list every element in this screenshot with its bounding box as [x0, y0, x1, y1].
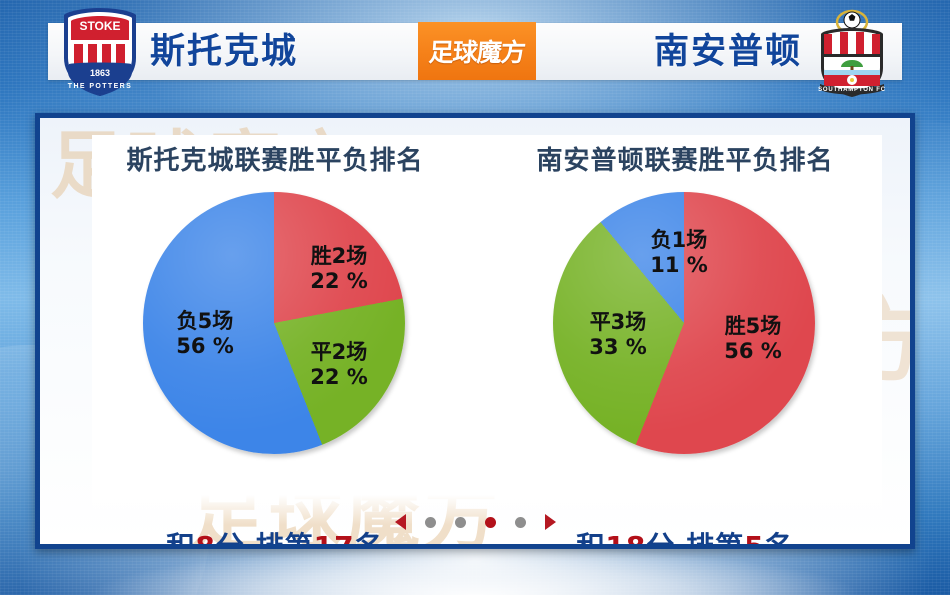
- pie-chart-away[interactable]: 胜5场 56 % 平3场 33 % 负1场 11 %: [553, 192, 815, 454]
- pager-dot[interactable]: [485, 517, 496, 528]
- stats-panel-inner: 足球魔方 足球魔方 魔方 斯托克城联赛胜平负排名 胜2场 22 % 平2场: [40, 118, 910, 544]
- chart-column-home: 斯托克城联赛胜平负排名 胜2场 22 % 平2场 22 % 负5场 56 %: [55, 140, 495, 540]
- pager-dot[interactable]: [425, 517, 436, 528]
- chart-title-away: 南安普顿联赛胜平负排名: [465, 140, 905, 177]
- pie-chart-home[interactable]: 胜2场 22 % 平2场 22 % 负5场 56 %: [143, 192, 405, 454]
- stoke-city-crest-icon: STOKE CITY 1863 THE POTTERS: [58, 6, 142, 98]
- stat-home-points: 8: [195, 530, 215, 544]
- chart-column-away: 南安普顿联赛胜平负排名 胜5场 56 % 平3场 33 % 负1场 11 %: [465, 140, 905, 540]
- stats-panel: 足球魔方 足球魔方 魔方 斯托克城联赛胜平负排名 胜2场 22 % 平2场: [35, 113, 915, 549]
- stat-home-rank: 17: [314, 530, 355, 544]
- carousel-pager: [40, 514, 910, 530]
- pie-slices-home: [143, 192, 405, 454]
- pie-slices-away: [553, 192, 815, 454]
- brand-logo[interactable]: 足球魔方: [418, 22, 536, 80]
- stat-home-mid: 分 排第: [216, 530, 314, 544]
- stat-away-points: 18: [605, 530, 646, 544]
- triangle-right-icon[interactable]: [545, 514, 556, 530]
- pager-dot[interactable]: [455, 517, 466, 528]
- svg-text:SOUTHAMPTON FC: SOUTHAMPTON FC: [818, 87, 886, 93]
- stat-away-suffix: 名: [765, 530, 794, 544]
- bottom-glow: [0, 547, 950, 595]
- triangle-left-icon[interactable]: [395, 514, 406, 530]
- southampton-crest-icon: SOUTHAMPTON FC: [810, 6, 894, 98]
- svg-text:CITY: CITY: [90, 31, 110, 41]
- pager-dot[interactable]: [515, 517, 526, 528]
- chart-title-home: 斯托克城联赛胜平负排名: [55, 140, 495, 177]
- match-header: STOKE CITY 1863 THE POTTERS 斯托克城 足球魔方 南安…: [0, 0, 950, 98]
- brand-logo-text: 足球魔方: [428, 33, 527, 69]
- stat-away-mid: 分 排第: [646, 530, 744, 544]
- home-team-name: 斯托克城: [150, 27, 298, 77]
- svg-text:THE POTTERS: THE POTTERS: [68, 83, 132, 90]
- stat-home-suffix: 名: [355, 530, 384, 544]
- pager-dot-list: [425, 517, 526, 528]
- away-team-name: 南安普顿: [654, 27, 802, 77]
- stat-away-prefix: 积: [576, 530, 605, 544]
- stat-home-prefix: 积: [166, 530, 195, 544]
- svg-text:1863: 1863: [90, 68, 110, 78]
- slide-stage: STOKE CITY 1863 THE POTTERS 斯托克城 足球魔方 南安…: [0, 0, 950, 595]
- stat-away-rank: 5: [744, 530, 764, 544]
